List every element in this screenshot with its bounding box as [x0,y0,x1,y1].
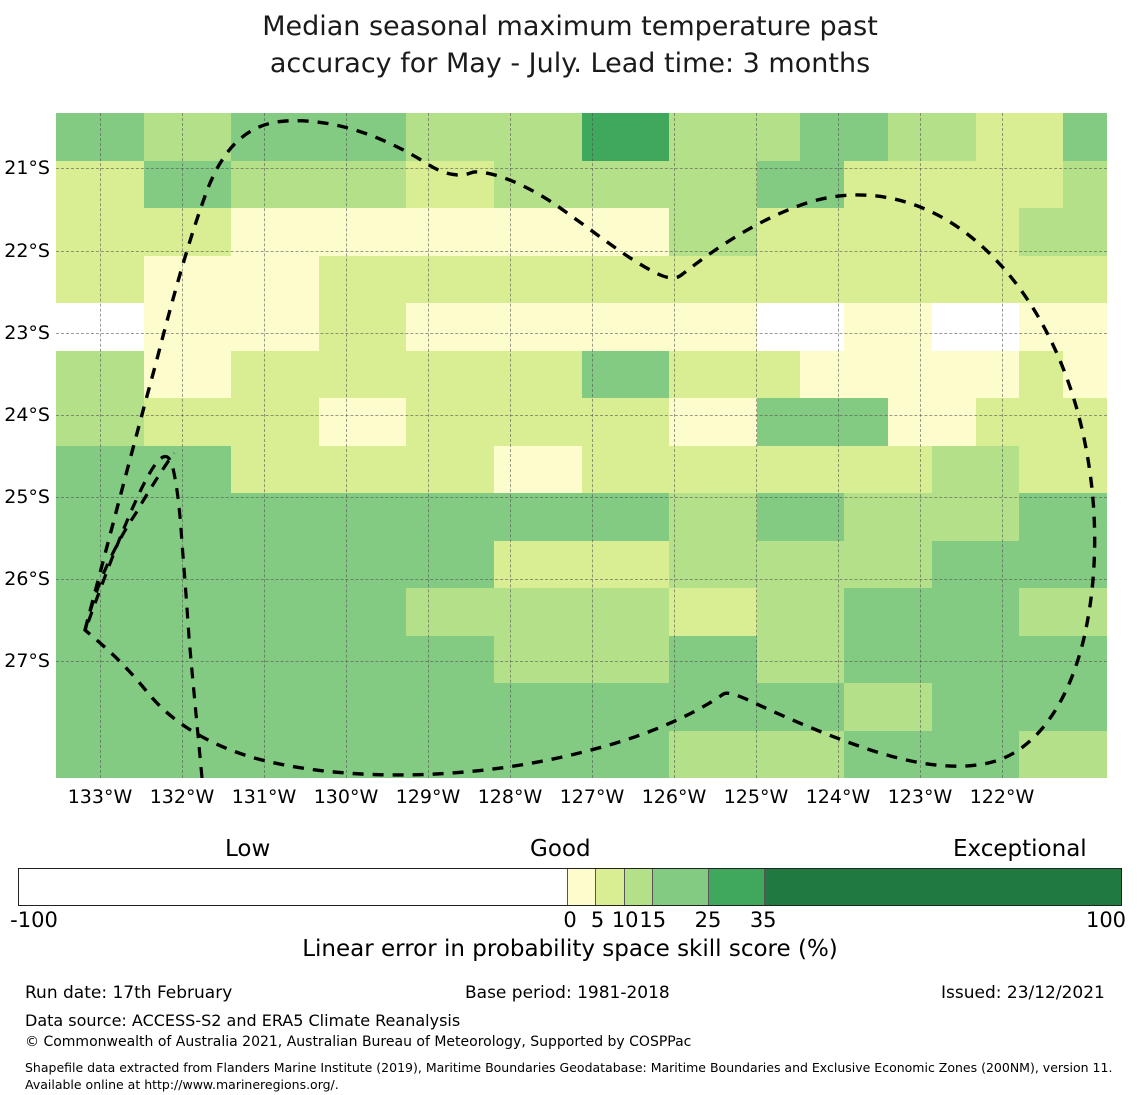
colorbar-gradient-bar [18,868,1122,906]
heatmap-cell [363,469,407,493]
heatmap-cell [538,351,582,375]
heatmap-cell [538,707,582,731]
heatmap-cell [363,161,407,185]
heatmap-cell [888,659,932,683]
heatmap-cell [713,612,757,636]
heatmap-cell [100,256,144,280]
heatmap-cell [319,469,363,493]
heatmap-cell [538,588,582,612]
y-axis-tick: 26°S [0,570,50,589]
heatmap-cell [144,208,188,232]
heatmap-cell [713,327,757,351]
heatmap-cell [625,279,669,303]
heatmap-cell [757,683,801,707]
heatmap-cell [275,327,319,351]
heatmap-cell [932,327,976,351]
heatmap-cell [538,636,582,660]
heatmap-cell [888,232,932,256]
heatmap-cell [275,398,319,422]
heatmap-cell [144,446,188,470]
heatmap-cell [932,113,976,137]
heatmap-cell [363,446,407,470]
heatmap-cell [494,469,538,493]
heatmap-cell [56,137,100,161]
heatmap-cell [625,469,669,493]
title-line-1: Median seasonal maximum temperature past [0,8,1140,45]
heatmap-cell [800,256,844,280]
heatmap-cell [450,422,494,446]
heatmap-cell [494,351,538,375]
heatmap-cell [582,707,626,731]
heatmap-cell [976,612,1020,636]
heatmap-cell [1019,754,1063,778]
heatmap-cell [713,398,757,422]
heatmap-cell [144,398,188,422]
heatmap-cell [713,161,757,185]
heatmap-cell [976,564,1020,588]
heatmap-cell [494,564,538,588]
heatmap-cell [1063,446,1107,470]
heatmap-cell [757,422,801,446]
heatmap-cell [582,422,626,446]
heatmap-cell [494,232,538,256]
heatmap-cell [932,612,976,636]
heatmap-cell [231,374,275,398]
heatmap-cell [187,232,231,256]
heatmap-cell [976,327,1020,351]
heatmap-cell [582,232,626,256]
heatmap-cell [450,541,494,565]
heatmap-cell [1063,541,1107,565]
heatmap-cell [363,517,407,541]
heatmap-cell [538,208,582,232]
heatmap-cell [406,541,450,565]
heatmap-cell [56,469,100,493]
heatmap-cell [450,256,494,280]
heatmap-cell [187,256,231,280]
heatmap-cell [582,564,626,588]
heatmap-cell [56,374,100,398]
heatmap-cell [56,113,100,137]
colorbar-axis-label: Linear error in probability space skill … [0,936,1140,963]
heatmap-cell [144,636,188,660]
heatmap-cell [56,232,100,256]
heatmap-cell [800,398,844,422]
footer-issued-date: Issued: 23/12/2021 [941,982,1105,1004]
heatmap-cell [713,517,757,541]
heatmap-cell [582,493,626,517]
heatmap-cell [844,469,888,493]
heatmap-cell [450,113,494,137]
heatmap-cell [450,351,494,375]
heatmap-cell [363,184,407,208]
heatmap-cell [888,327,932,351]
heatmap-cell [757,659,801,683]
heatmap-cell [976,184,1020,208]
heatmap-cell [757,256,801,280]
heatmap-cell [932,469,976,493]
heatmap-cell [757,327,801,351]
heatmap-cell [1019,683,1063,707]
heatmap-cell [56,184,100,208]
heatmap-cell [494,683,538,707]
heatmap-cell [231,398,275,422]
heatmap-cell [844,754,888,778]
colorbar-band [19,869,568,905]
heatmap-cell [757,469,801,493]
heatmap-cell [625,422,669,446]
heatmap-cell [713,208,757,232]
heatmap-cell [494,731,538,755]
heatmap-cell [669,541,713,565]
heatmap-cell [56,564,100,588]
heatmap-cell [275,659,319,683]
heatmap-cell [450,137,494,161]
heatmap-cell [100,707,144,731]
heatmap-cell [144,659,188,683]
heatmap-cell [1019,446,1063,470]
heatmap-cell [800,469,844,493]
heatmap-cell [187,113,231,137]
heatmap-cell [363,731,407,755]
heatmap-cell [888,731,932,755]
heatmap-cell [669,612,713,636]
heatmap-cell [1063,327,1107,351]
heatmap-cell [1063,351,1107,375]
colorbar-band [709,869,765,905]
heatmap-cell [669,279,713,303]
heatmap-cell [1019,541,1063,565]
heatmap-cell [100,398,144,422]
heatmap-cell [582,754,626,778]
heatmap-cell [844,564,888,588]
heatmap-cell [406,208,450,232]
heatmap-cell [669,707,713,731]
heatmap-cell [100,541,144,565]
heatmap-cell [187,612,231,636]
heatmap-cell [406,612,450,636]
heatmap-cell [713,707,757,731]
heatmap-cell [757,636,801,660]
heatmap-cell [625,232,669,256]
heatmap-cell [144,113,188,137]
heatmap-cell [538,517,582,541]
colorbar-band [596,869,624,905]
heatmap-cell [363,422,407,446]
heatmap-cell [976,754,1020,778]
heatmap-cell [1063,232,1107,256]
heatmap-cell [844,279,888,303]
heatmap-cell [669,161,713,185]
colorbar-label-exceptional: Exceptional [953,836,1087,862]
heatmap-cell [187,327,231,351]
heatmap-cell [450,279,494,303]
heatmap-cell [757,612,801,636]
heatmap-cell [713,137,757,161]
heatmap-cell [275,208,319,232]
heatmap-cell [800,754,844,778]
heatmap-cell [800,351,844,375]
heatmap-cell [56,398,100,422]
heatmap-cell [56,659,100,683]
heatmap-cell [888,184,932,208]
heatmap-cell [231,351,275,375]
heatmap-cell [1063,208,1107,232]
heatmap-cell [757,398,801,422]
heatmap-cell [319,374,363,398]
heatmap-cell [406,659,450,683]
footer-data-source: Data source: ACCESS-S2 and ERA5 Climate … [25,1010,460,1031]
heatmap-cell [319,564,363,588]
heatmap-cell [976,161,1020,185]
colorbar-band [765,869,1121,905]
heatmap-cell [582,137,626,161]
heatmap-cell [669,398,713,422]
heatmap-cell [976,683,1020,707]
heatmap-cell [582,446,626,470]
heatmap-cell [888,351,932,375]
heatmap-cell [1019,398,1063,422]
colorbar-band [653,869,709,905]
heatmap-cell [582,351,626,375]
heatmap-cell [275,137,319,161]
heatmap-cell [757,517,801,541]
heatmap-cell [582,208,626,232]
heatmap-cell [450,327,494,351]
heatmap-cell [494,137,538,161]
heatmap-cell [844,612,888,636]
heatmap-cell [363,279,407,303]
heatmap-cell [976,374,1020,398]
heatmap-cell [582,327,626,351]
heatmap-cell [538,469,582,493]
heatmap-cell [713,493,757,517]
heatmap-cell [494,588,538,612]
heatmap-cell [406,137,450,161]
heatmap-cell [932,161,976,185]
heatmap-cell [450,636,494,660]
heatmap-cell [582,683,626,707]
heatmap-cell [757,161,801,185]
heatmap-cell [144,517,188,541]
heatmap-cell [187,659,231,683]
heatmap-cell [100,469,144,493]
heatmap-cell [1019,564,1063,588]
heatmap-cell [757,731,801,755]
heatmap-cell [1063,279,1107,303]
heatmap-cell [363,208,407,232]
heatmap-cell [231,446,275,470]
heatmap-cell [800,422,844,446]
heatmap-cell [187,493,231,517]
heatmap-cell [669,208,713,232]
heatmap-cell [932,446,976,470]
heatmap-cell [450,469,494,493]
heatmap-cell [187,208,231,232]
heatmap-cell [1019,137,1063,161]
heatmap-cell [1019,208,1063,232]
heatmap-cell [976,398,1020,422]
heatmap-cell [406,113,450,137]
heatmap-cell [888,707,932,731]
title-line-2: accuracy for May - July. Lead time: 3 mo… [0,45,1140,82]
heatmap-cell [888,612,932,636]
heatmap-cell [100,137,144,161]
heatmap-cell [713,683,757,707]
heatmap-cell [1063,683,1107,707]
heatmap-cell [100,113,144,137]
heatmap-cell [932,493,976,517]
heatmap-cell [844,422,888,446]
heatmap-cell [932,184,976,208]
heatmap-cell [582,113,626,137]
heatmap-cell [363,588,407,612]
heatmap-cell [187,351,231,375]
heatmap-cell [888,517,932,541]
heatmap-cell [56,612,100,636]
heatmap-cell [56,327,100,351]
heatmap-cell [56,731,100,755]
heatmap-cell [275,351,319,375]
heatmap-cell [144,161,188,185]
footer-base-period: Base period: 1981-2018 [465,982,670,1004]
heatmap-cell [450,754,494,778]
heatmap-cell [932,517,976,541]
heatmap-cell [187,279,231,303]
heatmap-cell [56,303,100,327]
heatmap-cell [144,279,188,303]
heatmap-cell [450,232,494,256]
heatmap-cell [1019,256,1063,280]
heatmap-cell [976,636,1020,660]
heatmap-cell [450,588,494,612]
heatmap-cell [275,707,319,731]
heatmap-cell [231,731,275,755]
heatmap-cell [625,208,669,232]
heatmap-cell [231,683,275,707]
heatmap-cell [976,541,1020,565]
heatmap-cell [625,659,669,683]
heatmap-cell [582,612,626,636]
heatmap-cell [582,731,626,755]
heatmap-cell [844,731,888,755]
heatmap-cell [494,327,538,351]
heatmap-cell [713,351,757,375]
heatmap-cell [1063,612,1107,636]
heatmap-cell [100,422,144,446]
heatmap-cell [888,564,932,588]
heatmap-cell [800,588,844,612]
heatmap-cell [538,564,582,588]
heatmap-cell [187,446,231,470]
heatmap-cell [888,137,932,161]
heatmap-cell [888,256,932,280]
heatmap-cell [757,303,801,327]
heatmap-cell [1063,184,1107,208]
heatmap-cell [187,564,231,588]
heatmap-cell [319,636,363,660]
heatmap-cell [582,469,626,493]
heatmap-cell [187,683,231,707]
heatmap-cell [1019,707,1063,731]
heatmap-cell [844,327,888,351]
heatmap-cell [231,636,275,660]
heatmap-cell [363,636,407,660]
heatmap-cell [800,446,844,470]
colorbar-tick: 35 [703,908,823,932]
heatmap-cell [187,731,231,755]
heatmap-cell [363,541,407,565]
heatmap-cell [231,707,275,731]
heatmap-cell [669,446,713,470]
footer: Run date: 17th February Base period: 198… [0,982,1140,1095]
heatmap-cell [56,279,100,303]
heatmap-cell [1063,636,1107,660]
heatmap-cell [406,469,450,493]
heatmap-cell [757,113,801,137]
heatmap-cell [56,446,100,470]
heatmap-cell [100,493,144,517]
heatmap-cell [757,351,801,375]
heatmap-cell [56,683,100,707]
heatmap-cell [888,754,932,778]
heatmap-cell [800,279,844,303]
heatmap-cell [275,256,319,280]
heatmap-cell [757,541,801,565]
heatmap-cell [625,564,669,588]
heatmap-cell [231,208,275,232]
heatmap-cell [494,541,538,565]
heatmap-cell [363,659,407,683]
heatmap-cell [406,754,450,778]
heatmap-cell [800,374,844,398]
heatmap-cell [275,564,319,588]
heatmap-cell [494,493,538,517]
heatmap-cell [976,208,1020,232]
heatmap-cell [100,351,144,375]
heatmap-cell [100,279,144,303]
heatmap-cell [144,374,188,398]
heatmap-cell [669,683,713,707]
heatmap-cell [757,564,801,588]
heatmap-cell [144,707,188,731]
heatmap-cell [1019,731,1063,755]
heatmap-cell [669,564,713,588]
heatmap-cell [450,184,494,208]
heatmap-cell [275,161,319,185]
heatmap-cell [1063,588,1107,612]
heatmap-cell [100,208,144,232]
heatmap-cell [494,707,538,731]
heatmap-cell [363,327,407,351]
heatmap-cell [231,184,275,208]
heatmap-cell [406,422,450,446]
heatmap-cell [450,659,494,683]
heatmap-cell [669,327,713,351]
heatmap-cell [406,184,450,208]
heatmap-cell [538,683,582,707]
heatmap-cell [669,754,713,778]
heatmap-cell [275,184,319,208]
heatmap-cell [844,374,888,398]
heatmap-cell [406,351,450,375]
heatmap-cell [888,493,932,517]
heatmap-cell [1019,232,1063,256]
heatmap-cell [275,446,319,470]
heatmap-cell [363,303,407,327]
heatmap-cell [844,398,888,422]
heatmap-cell [625,517,669,541]
